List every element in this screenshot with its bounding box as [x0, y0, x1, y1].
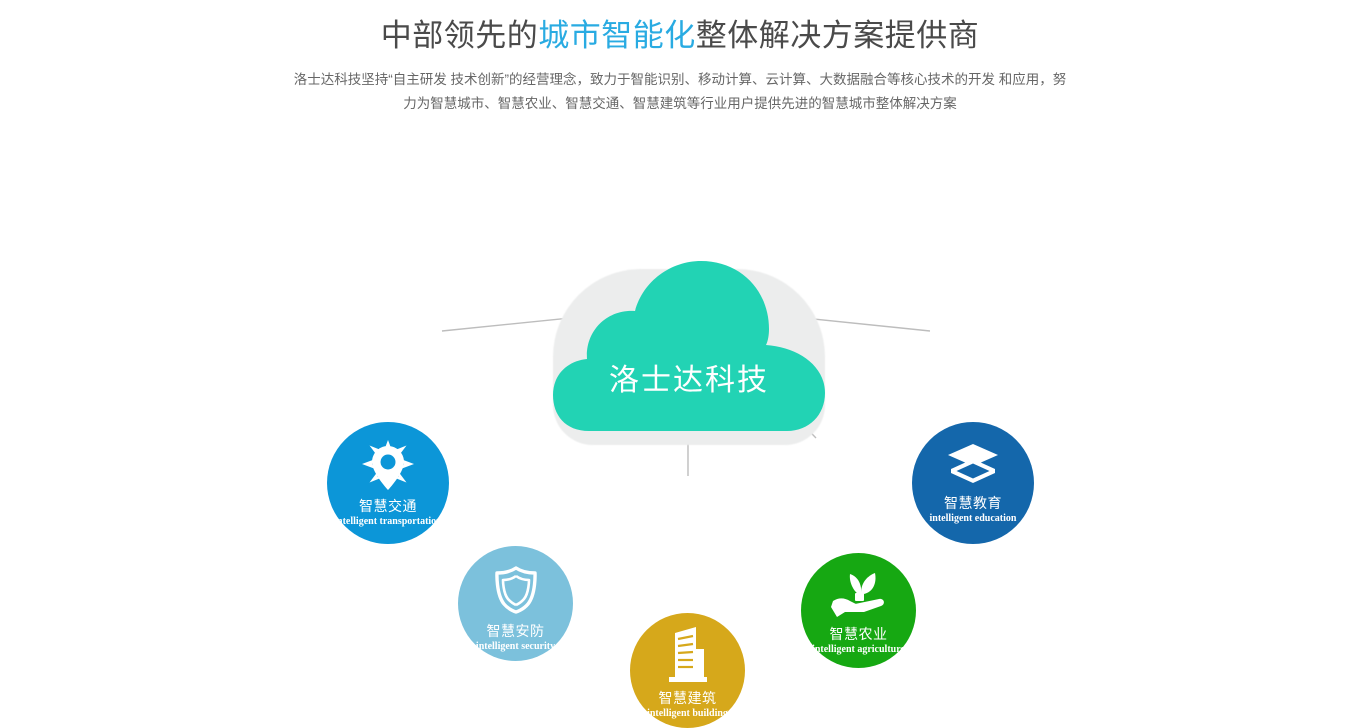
page-title-highlight: 城市智能化: [538, 18, 696, 53]
node-intelligent-transportation[interactable]: 智慧交通 intelligent transportation: [327, 422, 449, 544]
node-label-en: intelligent agriculture: [812, 643, 905, 656]
node-intelligent-education[interactable]: 智慧教育 intelligent education: [912, 422, 1034, 544]
page-title: 中部领先的城市智能化整体解决方案提供商: [0, 14, 1360, 58]
center-cloud[interactable]: 洛士达科技: [551, 259, 827, 445]
hand-sprout-icon: [831, 571, 887, 619]
node-intelligent-agriculture[interactable]: 智慧农业 intelligent agriculture: [801, 553, 916, 668]
page-subtitle-line-1: 洛士达科技坚持“自主研发 技术创新”的经营理念，致力于智能识别、移动计算、云计算…: [294, 72, 995, 87]
cloud-icon: [551, 259, 827, 437]
node-label-cn: 智慧教育: [944, 495, 1002, 512]
shield-icon: [494, 566, 538, 614]
page-title-part1: 中部领先的: [381, 18, 539, 53]
page-title-part2: 整体解决方案提供商: [696, 18, 980, 53]
node-label-en: intelligent security: [476, 640, 555, 653]
location-pin-compass-icon: [362, 440, 414, 490]
node-intelligent-security[interactable]: 智慧安防 intelligent security: [458, 546, 573, 661]
skyscraper-icon: [665, 627, 711, 685]
node-label-en: intelligent building: [647, 707, 728, 720]
node-label-cn: 智慧建筑: [659, 690, 717, 707]
node-label-en: intelligent transportation: [334, 515, 442, 528]
node-label-cn: 智慧农业: [830, 626, 888, 643]
stacked-books-icon: [948, 444, 998, 488]
page-header: 中部领先的城市智能化整体解决方案提供商 洛士达科技坚持“自主研发 技术创新”的经…: [0, 0, 1360, 116]
node-label-cn: 智慧安防: [487, 623, 545, 640]
node-label-cn: 智慧交通: [359, 498, 417, 515]
node-label-en: intelligent education: [930, 512, 1017, 525]
page-subtitle: 洛士达科技坚持“自主研发 技术创新”的经营理念，致力于智能识别、移动计算、云计算…: [288, 68, 1072, 116]
node-intelligent-building[interactable]: 智慧建筑 intelligent building: [630, 613, 745, 728]
solutions-diagram: 洛士达科技 智慧交通 intelligent transportation: [0, 116, 1360, 636]
